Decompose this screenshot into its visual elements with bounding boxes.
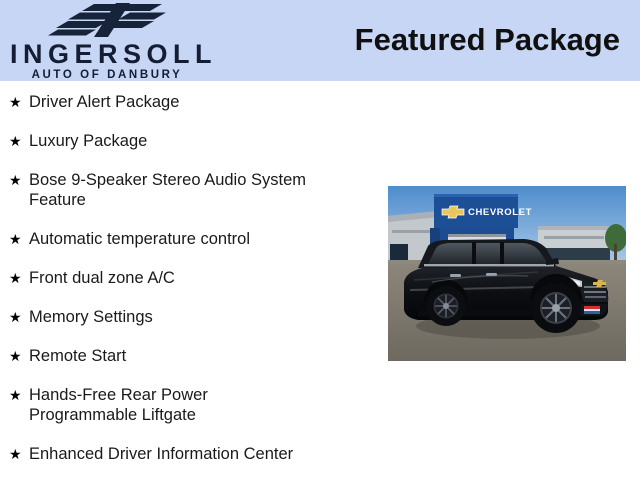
list-item: ★ Luxury Package: [0, 131, 380, 151]
star-bullet-icon: ★: [9, 229, 29, 249]
list-item: ★ Driver Alert Package: [0, 92, 380, 112]
star-bullet-icon: ★: [9, 268, 29, 288]
star-bullet-icon: ★: [9, 131, 29, 151]
vehicle-photo-image: CHEVROLET: [388, 186, 626, 361]
list-item: ★ Automatic temperature control: [0, 229, 380, 249]
list-item-label: Memory Settings: [29, 307, 380, 327]
star-bullet-icon: ★: [9, 307, 29, 327]
list-item-label: Front dual zone A/C: [29, 268, 380, 288]
brand-subtitle: AUTO OF DANBURY: [5, 69, 205, 81]
star-bullet-icon: ★: [9, 346, 29, 366]
list-item-label: Enhanced Driver Information Center: [29, 444, 380, 464]
featured-package-list: ★ Driver Alert Package ★ Luxury Package …: [0, 81, 380, 480]
list-item: ★ Bose 9-Speaker Stereo Audio System Fea…: [0, 170, 380, 210]
page-title: Featured Package: [355, 22, 620, 58]
list-item: ★ Remote Start: [0, 346, 380, 366]
star-bullet-icon: ★: [9, 385, 29, 405]
list-item: ★ Front dual zone A/C: [0, 268, 380, 288]
star-bullet-icon: ★: [9, 444, 29, 464]
svg-text:CHEVROLET: CHEVROLET: [468, 207, 532, 218]
vehicle-photo[interactable]: CHEVROLET: [388, 186, 626, 361]
ingersoll-wing-emblem-icon: [30, 2, 180, 38]
star-bullet-icon: ★: [9, 170, 29, 190]
list-item: ★ Enhanced Driver Information Center: [0, 444, 380, 464]
dealer-logo[interactable]: INGERSOLL AUTO OF DANBURY: [5, 2, 205, 80]
list-item: ★ Memory Settings: [0, 307, 380, 327]
star-bullet-icon: ★: [9, 92, 29, 112]
list-item-label: Automatic temperature control: [29, 229, 380, 249]
list-item-label: Hands-Free Rear Power Programmable Liftg…: [29, 385, 380, 425]
list-item-label: Luxury Package: [29, 131, 380, 151]
brand-name: INGERSOLL: [5, 39, 205, 69]
page-header: INGERSOLL AUTO OF DANBURY Featured Packa…: [0, 0, 640, 81]
list-item-label: Driver Alert Package: [29, 92, 380, 112]
list-item-label: Remote Start: [29, 346, 380, 366]
list-item-label: Bose 9-Speaker Stereo Audio System Featu…: [29, 170, 380, 210]
list-item: ★ Hands-Free Rear Power Programmable Lif…: [0, 385, 380, 425]
